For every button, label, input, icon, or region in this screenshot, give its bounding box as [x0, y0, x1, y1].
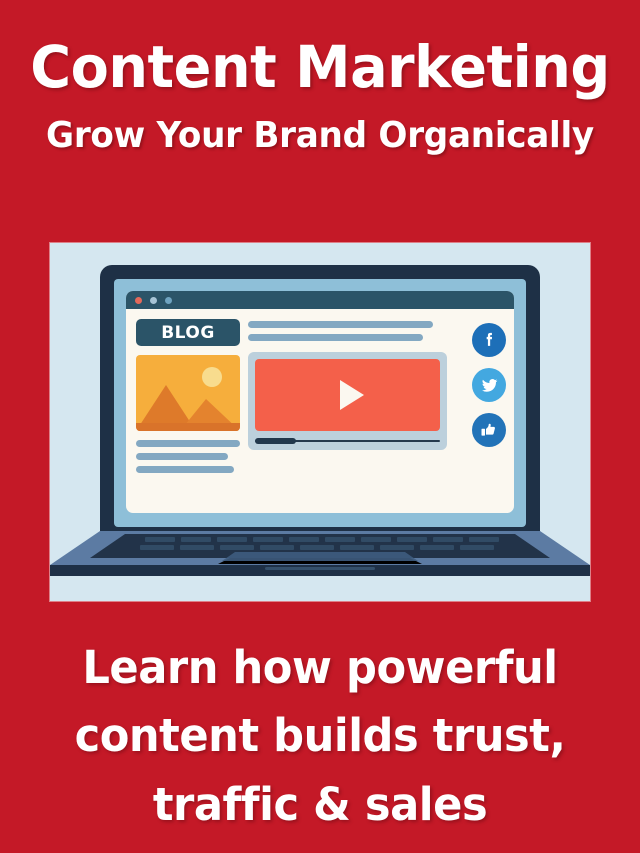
video-progress-bar[interactable] [255, 438, 440, 444]
minimize-dot-icon[interactable] [150, 297, 157, 304]
text-line [248, 321, 433, 328]
play-icon[interactable] [340, 380, 364, 410]
laptop-lid: BLOG [100, 265, 540, 537]
mountain-icon [136, 377, 240, 431]
video-screen[interactable] [255, 359, 440, 431]
page-subtitle: Grow Your Brand Organically [16, 118, 624, 154]
browser-window: BLOG [126, 291, 514, 513]
progress-fill [255, 438, 296, 444]
text-line [136, 440, 240, 447]
twitter-icon[interactable] [472, 368, 506, 402]
page-title: Content Marketing [13, 38, 627, 96]
text-line [248, 334, 423, 341]
article-text-lines [136, 440, 240, 473]
header-text-lines [248, 321, 505, 341]
browser-titlebar [126, 291, 514, 309]
thumbs-up-glyph [479, 420, 499, 440]
facebook-glyph [479, 330, 499, 350]
social-share-rail [472, 323, 506, 447]
laptop-base [50, 531, 590, 583]
browser-content: BLOG [126, 309, 514, 513]
body-line-2: content builds trust, [13, 702, 627, 770]
maximize-dot-icon[interactable] [165, 297, 172, 304]
media-column [248, 319, 505, 504]
video-player[interactable] [248, 352, 447, 450]
twitter-glyph [479, 375, 500, 396]
close-dot-icon[interactable] [135, 297, 142, 304]
article-column: BLOG [136, 319, 240, 504]
text-line [136, 466, 234, 473]
text-line [136, 453, 228, 460]
blog-badge[interactable]: BLOG [136, 319, 240, 346]
poster-canvas: Content Marketing Grow Your Brand Organi… [0, 0, 640, 853]
body-line-1: Learn how powerful [13, 634, 627, 702]
facebook-icon[interactable] [472, 323, 506, 357]
laptop-illustration: BLOG [50, 243, 590, 601]
thumbs-up-icon[interactable] [472, 413, 506, 447]
body-line-3: traffic & sales [13, 771, 627, 839]
body-copy: Learn how powerful content builds trust,… [13, 634, 627, 839]
article-thumbnail-image [136, 355, 240, 431]
laptop-screen: BLOG [114, 279, 526, 527]
heading-block: Content Marketing Grow Your Brand Organi… [0, 0, 640, 154]
